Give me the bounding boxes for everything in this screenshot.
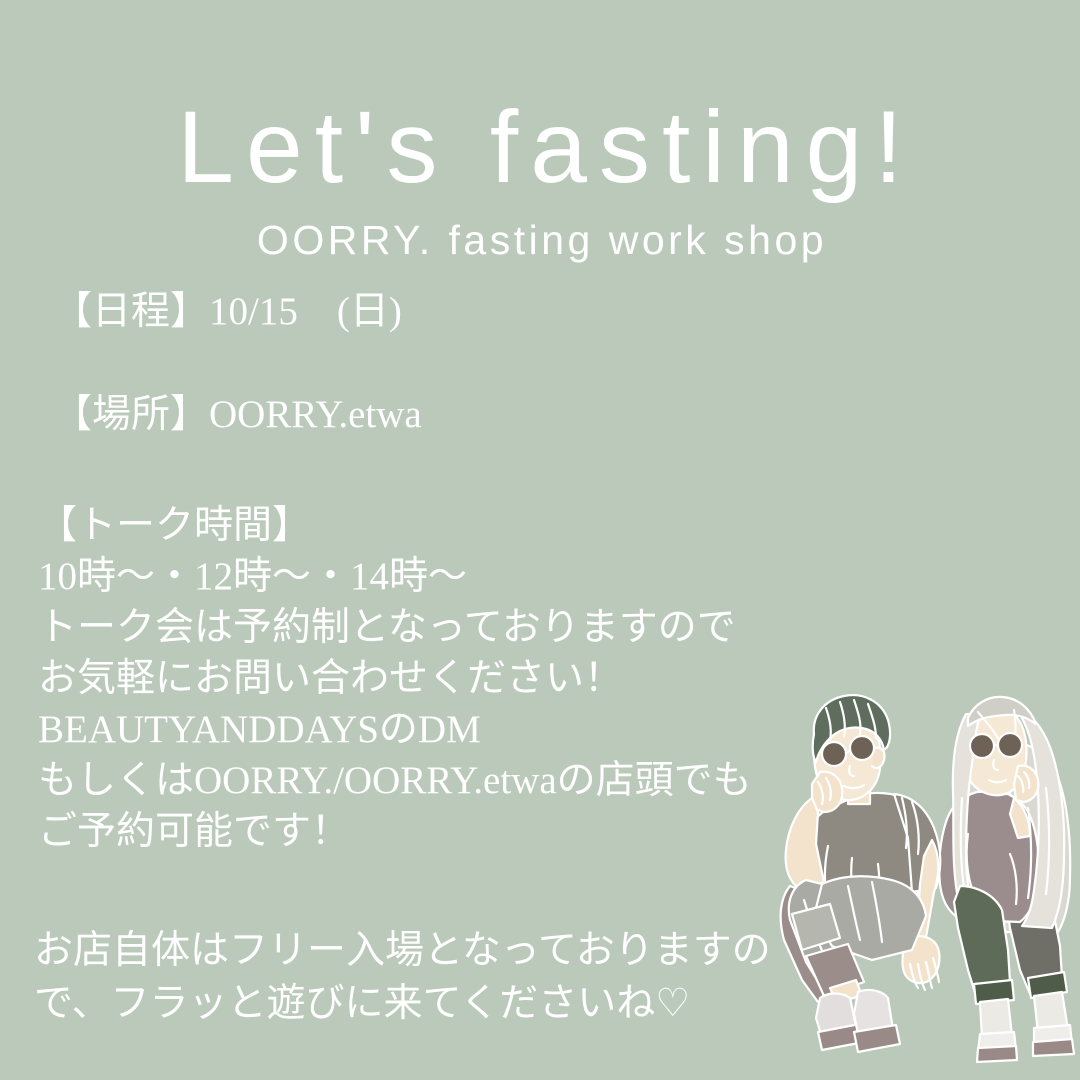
right-figure-shoe-sole-far [1033, 1039, 1074, 1056]
place-line: 【場所】OORRY.etwa [53, 395, 790, 434]
place-group: 【場所】OORRY.etwa [0, 395, 790, 434]
date-line: 【日程】10/15 (日) [53, 292, 790, 331]
two-seated-people-illustration [762, 688, 1080, 1080]
talk-line-possible: ご予約可能です！ [38, 812, 790, 851]
free-entry-group: お店自体はフリー入場となっておりますの で、フラッと遊びに来てくださいね♡ [0, 931, 790, 1023]
left-figure-sunglass-lens-right [850, 736, 874, 760]
free-entry-line-1: お店自体はフリー入場となっておりますの [34, 931, 790, 970]
page-subtitle: OORRY. fasting work shop [0, 220, 1080, 261]
talk-line-store: もしくはOORRY./OORRY.etwaの店頭でも [38, 761, 790, 800]
right-figure-sunglass-lens-left [970, 734, 994, 758]
talk-line-reserve: トーク会は予約制となっておりますので [38, 608, 790, 647]
talk-line-times: 10時〜・12時〜・14時〜 [38, 557, 790, 596]
body-text: 【日程】10/15 (日) 【場所】OORRY.etwa 【トーク時間】 10時… [0, 292, 790, 1023]
talk-line-dm: BEAUTYANDDAYSのDM [38, 710, 790, 749]
poster-canvas: Let's fasting! OORRY. fasting work shop … [0, 0, 1080, 1080]
page-title: Let's fasting! [0, 96, 1080, 198]
left-figure-sunglass-bridge [846, 751, 850, 752]
talk-line-contact: お気軽にお問い合わせください！ [38, 659, 790, 698]
talk-group: 【トーク時間】 10時〜・12時〜・14時〜 トーク会は予約制となっておりますの… [0, 506, 790, 851]
title-block: Let's fasting! OORRY. fasting work shop [0, 96, 1080, 261]
free-entry-line-2: で、フラッと遊びに来てくださいね♡ [34, 984, 790, 1023]
date-group: 【日程】10/15 (日) [0, 292, 790, 331]
right-figure-hand [1014, 766, 1038, 802]
talk-line-heading: 【トーク時間】 [38, 506, 790, 545]
left-figure-sunglass-lens-left [822, 742, 846, 766]
right-figure-shoe-sole-near [977, 1046, 1017, 1062]
illustration-svg [762, 688, 1080, 1080]
right-figure-sunglass-lens-right [998, 733, 1022, 757]
